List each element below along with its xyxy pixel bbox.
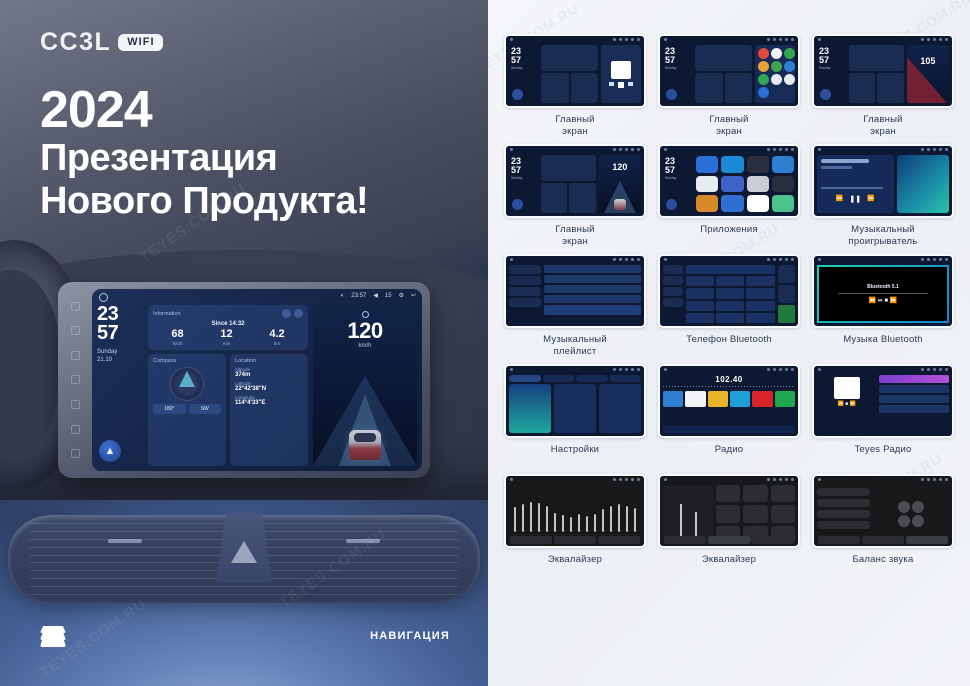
dialpad-key[interactable] [686,313,714,323]
expand-icon[interactable] [294,309,303,318]
presentation-slide: TEYES.COM.RU TEYES.COM.RU TEYES.COM.RU C… [0,0,970,686]
status-icons [921,258,948,261]
app-icon[interactable] [721,156,743,173]
home-icon [818,38,821,41]
mini-status-bar [660,36,798,43]
eq-slider[interactable] [570,517,572,532]
home-icon [818,368,821,371]
preset-button[interactable] [716,505,740,522]
mini-clock-widget: 2357Sunday [663,155,692,213]
compass-heading: 180° [153,404,186,414]
screen-caption: Радио [715,444,743,468]
eq-slider[interactable] [514,507,516,532]
speaker-grid[interactable] [898,501,924,527]
gallery-item[interactable]: Телефон Bluetooth [658,254,800,358]
app-icon[interactable] [747,176,769,193]
status-icons [613,258,640,261]
brand-name: CC3L [40,28,111,57]
navigation-button[interactable] [666,89,677,100]
preset-button[interactable] [743,505,767,522]
gallery-item[interactable]: Баланс звука [812,474,954,578]
headline-line-1: Презентация [40,137,368,180]
dialpad-key[interactable] [746,288,774,298]
music-player-view[interactable]: ⏪❚❚⏩ [817,155,949,213]
station-logo[interactable] [708,391,728,407]
screen-caption: Музыка Bluetooth [843,334,923,358]
screen-thumbnail-radio[interactable]: 102.40 [658,364,800,438]
mini-status-bar [660,146,798,153]
wifi-badge: WIFI [118,34,162,51]
navigation-button[interactable]: ▲ [99,440,121,462]
screen-caption: Баланс звука [853,554,914,578]
volume-icon: ◀ [373,292,378,299]
navigation-button[interactable] [512,199,523,210]
mini-status-bar [506,256,644,263]
back-icon[interactable] [71,400,80,409]
dialpad-key[interactable] [716,276,744,286]
carplay-tile[interactable] [554,384,596,433]
back-icon[interactable]: ↩ [411,292,416,299]
status-icons [613,368,640,371]
gallery-item[interactable]: Настройки [504,364,646,468]
compass-direction: SW [189,404,222,414]
status-icons [767,148,794,151]
screen-caption: Teyes Радио [854,444,911,468]
information-stats: 68 km/h 12 min 4.2 km [153,329,303,346]
app-icon[interactable] [721,195,743,212]
app-icon[interactable] [758,87,769,98]
status-icons [921,148,948,151]
station-logo[interactable] [752,391,772,407]
dialpad-key[interactable] [746,276,774,286]
mini-clock-widget: 2357Sunday [663,45,692,103]
eq-slider[interactable] [562,515,564,532]
dialpad-key[interactable] [686,301,714,311]
mini-status-bar [660,366,798,373]
stat-item: 4.2 km [269,329,284,346]
navigation-button[interactable] [820,89,831,100]
screen-thumbnail-bt-music[interactable]: Bluetooth 5.1⏪ ⏯ ■ ⏩ [812,254,954,328]
app-shortcuts[interactable] [755,45,795,103]
status-icons [767,368,794,371]
home-icon [510,478,513,481]
app-icon[interactable] [771,48,782,59]
home-icon [510,148,513,151]
home-icon [664,258,667,261]
dialpad-key[interactable] [746,313,774,323]
app-icon[interactable] [696,156,718,173]
settings-view[interactable] [509,375,641,433]
preset-button[interactable] [716,485,740,502]
playlist-row[interactable] [544,275,641,283]
eq-slider[interactable] [626,506,628,532]
dialpad-key[interactable] [716,288,744,298]
screen-home-icon[interactable] [99,293,108,302]
radio-list-row[interactable] [879,375,949,383]
stat-value: 4.2 [269,329,284,340]
station-logo[interactable] [730,391,750,407]
screen-caption: Главныйэкран [709,114,748,138]
mini-status-bar [506,146,644,153]
screen-caption: Главныйэкран [863,114,902,138]
gallery-item[interactable]: 2357Sunday105Главныйэкран [812,34,954,138]
mini-clock-widget: 2357Sunday [509,155,538,213]
app-icon[interactable] [696,195,718,212]
screen-thumbnail-equalizer-preset[interactable] [658,474,800,548]
music-playlist-view[interactable] [509,265,641,323]
location-widget[interactable]: Location Altitude 374m Latitude 22°42'38… [230,354,308,466]
status-icons [767,258,794,261]
clock-minutes: 57 [97,324,143,343]
driving-view[interactable]: 105 [907,45,949,103]
stat-unit: km/h [171,341,183,346]
home-icon [510,368,513,371]
home-icon [818,478,821,481]
app-icon[interactable] [772,195,794,212]
radio-list-row[interactable] [879,385,949,393]
screen-thumbnail-music-player[interactable]: ⏪❚❚⏩ [812,144,954,218]
head-unit-bezel: ◐ 23:57 ◀ 15 ⚙ ↩ 23 57 Sunday 21.10 [58,282,430,478]
preset-button[interactable] [771,485,795,502]
headline-line-2: Нового Продукта! [40,180,368,223]
eq-slider[interactable] [546,506,548,532]
screen-thumbnail-teyes-radio[interactable]: ⏪ ■ ⏩ [812,364,954,438]
button-icon-plus[interactable] [71,326,80,335]
dialpad-key[interactable] [716,301,744,311]
status-icons [767,478,794,481]
volume-down-icon[interactable] [71,425,80,434]
mini-widgets [695,45,752,103]
screen-caption: Главныйэкран [555,224,594,248]
playlist-row[interactable] [544,265,641,273]
mini-widgets [849,45,904,103]
status-volume: 15 [385,293,392,299]
latitude-value: 22°42'38"N [235,386,303,392]
screen-thumbnail-bt-phone[interactable] [658,254,800,328]
app-icon[interactable] [784,48,795,59]
speed-unit: km/h [358,343,371,349]
app-icon[interactable] [784,74,795,85]
home-icon [818,148,821,151]
app-icon[interactable] [758,61,769,72]
mini-status-bar [814,256,952,263]
screen-caption: Главныйэкран [555,114,594,138]
dialpad-key[interactable] [686,288,714,298]
head-unit-side-buttons[interactable] [64,294,86,466]
speed-icon [362,311,369,318]
app-icon[interactable] [772,156,794,173]
eq-slider[interactable] [634,508,636,532]
screen-caption: Телефон Bluetooth [686,334,772,358]
stat-unit: km [269,341,284,346]
bluetooth-phone-view[interactable] [663,265,795,323]
balance-option[interactable] [817,499,870,507]
settings-icon[interactable]: ⚙ [399,292,404,299]
mini-widgets [541,155,596,213]
stat-value: 12 [220,329,232,340]
screen-thumbnail-sound-balance[interactable] [812,474,954,548]
gallery-grid: 2357SundayГлавныйэкран2357SundayГлавныйэ… [504,34,954,578]
gallery-item[interactable]: ⏪ ■ ⏩Teyes Радио [812,364,954,468]
screen-body: 23 57 Sunday 21.10 ▲ Information [97,305,417,466]
mini-status-bar [506,36,644,43]
eq-slider[interactable] [554,513,556,532]
radio-list-row[interactable] [879,405,949,413]
equalizer-tabs[interactable] [664,536,794,544]
home-icon[interactable] [71,375,80,384]
eq-slider[interactable] [618,504,620,532]
gallery-item[interactable]: Музыкальныйплейлист [504,254,646,358]
screens-gallery-panel: TEYES.COM.RU TEYES.COM.RU TEYES.COM.RU T… [488,0,970,686]
gallery-item[interactable]: ⏪❚❚⏩Музыкальныйпроигрыватель [812,144,954,248]
wifi-tile[interactable] [509,384,551,433]
navigation-arrow-icon: ▲ [105,446,116,457]
app-icon[interactable] [772,176,794,193]
status-icons [613,148,640,151]
eq-slider[interactable] [538,503,540,532]
vent-control-right[interactable] [346,539,380,543]
slide-footer: НАВИГАЦИЯ [0,600,488,686]
mini-clock-widget: 2357Sunday [509,45,538,103]
preset-button[interactable] [743,485,767,502]
hazard-triangle-icon [231,541,257,563]
compass-dial [170,367,204,401]
mini-status-bar [660,256,798,263]
compass-widget[interactable]: Compass 180° SW [148,354,226,466]
gallery-item[interactable]: 2357SundayГлавныйэкран [658,34,800,138]
screen-caption: Настройки [551,444,599,468]
mini-status-bar [506,476,644,483]
brand-logo: CC3L WIFI [40,28,163,57]
app-icon[interactable] [771,74,782,85]
mini-clock-widget: 2357Sunday [817,45,846,103]
gallery-item[interactable]: 102.40Радио [658,364,800,468]
screen-thumbnail-home-apps[interactable]: 2357Sunday [658,34,800,108]
stat-value: 68 [171,329,183,340]
speed-value: 120 [347,320,382,342]
information-since: Since 14:32 [153,321,303,327]
information-widget[interactable]: Information Since 14:32 68 km/h [148,305,308,350]
app-icon[interactable] [747,195,769,212]
radio-list-row[interactable] [879,395,949,403]
widgets-column: Information Since 14:32 68 km/h [148,305,308,466]
home-icon [664,148,667,151]
car-graphic [349,430,381,460]
mini-status-bar [506,366,644,373]
station-logo[interactable] [685,391,705,407]
page-title: 2024 Презентация Нового Продукта! [40,84,368,222]
navigation-button[interactable] [666,199,677,210]
driving-view-widget[interactable]: 120 km/h [313,305,417,466]
longitude-value: 114°4'33"E [235,400,303,406]
headline-year: 2024 [40,84,368,137]
clock-widget: 23 57 Sunday 21.10 ▲ [97,305,143,466]
power-icon[interactable] [71,351,80,360]
balance-option[interactable] [817,510,870,518]
secondary-widgets: Compass 180° SW Location [148,354,308,466]
gallery-item[interactable]: Bluetooth 5.1⏪ ⏯ ■ ⏩Музыка Bluetooth [812,254,954,358]
home-icon [664,38,667,41]
gallery-item[interactable]: Эквалайзер [658,474,800,578]
status-icons [767,38,794,41]
screen-thumbnail-home-music[interactable]: 2357Sunday [504,34,646,108]
left-hero-panel: TEYES.COM.RU TEYES.COM.RU TEYES.COM.RU C… [0,0,488,686]
eq-slider[interactable] [522,504,524,532]
screen-caption: Музыкальныйплейлист [543,334,607,358]
preset-button[interactable] [771,505,795,522]
clock-day: Sunday [97,348,143,356]
status-icons [921,478,948,481]
equalizer-sliders[interactable] [514,492,636,532]
eq-slider[interactable] [594,514,596,532]
app-icon[interactable] [696,176,718,193]
dialpad-key[interactable] [716,313,744,323]
playlist-row[interactable] [544,285,641,293]
gallery-item[interactable]: 2357Sunday120Главныйэкран [504,144,646,248]
compass-title: Compass [153,358,221,364]
status-icons [613,38,640,41]
screen-thumbnail-settings[interactable] [504,364,646,438]
mini-widgets [541,45,598,103]
more-tile[interactable] [599,384,641,433]
dialpad-key[interactable] [686,276,714,286]
wifi-icon: ◐ [341,293,345,299]
eq-slider[interactable] [578,514,580,532]
screen-status-bar: ◐ 23:57 ◀ 15 ⚙ ↩ [341,292,416,299]
playlist-row[interactable] [544,295,641,303]
screen-thumbnail-music-playlist[interactable] [504,254,646,328]
dialpad-key[interactable] [746,301,774,311]
station-logo[interactable] [663,391,683,407]
app-icon[interactable] [771,61,782,72]
app-icon[interactable] [747,156,769,173]
balance-option[interactable] [817,521,870,529]
home-icon [664,478,667,481]
app-icon[interactable] [758,48,769,59]
eq-slider[interactable] [610,506,612,532]
equalizer-preset-view[interactable] [663,485,795,543]
location-title: Location [235,358,303,364]
screen-caption: Эквалайзер [548,554,602,578]
clock-date: 21.10 [97,356,143,364]
screen-thumbnail-home-speed[interactable]: 2357Sunday120 [504,144,646,218]
eq-slider[interactable] [530,502,532,532]
stat-item: 68 km/h [171,329,183,346]
app-icon[interactable] [721,176,743,193]
home-icon [818,258,821,261]
mini-status-bar [814,146,952,153]
app-icon[interactable] [784,61,795,72]
sound-balance-view[interactable] [817,485,949,543]
screen-caption: Эквалайзер [702,554,756,578]
gallery-item[interactable]: 2357SundayГлавныйэкран [504,34,646,138]
screen-thumbnail-home-drive[interactable]: 2357Sunday105 [812,34,954,108]
volume-up-icon[interactable] [71,449,80,458]
eq-slider[interactable] [602,509,604,532]
information-title: Information [153,311,181,317]
teyes-radio-view[interactable]: ⏪ ■ ⏩ [817,375,949,433]
balance-tabs[interactable] [818,536,948,544]
screen-thumbnail-equalizer-bars[interactable] [504,474,646,548]
bluetooth-music-view[interactable]: Bluetooth 5.1⏪ ⏯ ■ ⏩ [817,265,949,323]
stat-item: 12 min [220,329,232,346]
status-time: 23:57 [351,293,366,299]
radio-view[interactable]: 102.40 [663,375,795,433]
head-unit-screen[interactable]: ◐ 23:57 ◀ 15 ⚙ ↩ 23 57 Sunday 21.10 [92,289,422,471]
home-icon [664,368,667,371]
status-icons [613,478,640,481]
station-logo[interactable] [775,391,795,407]
footer-nav-label: НАВИГАЦИЯ [370,630,450,642]
refresh-icon[interactable] [282,309,291,318]
status-icons [921,38,948,41]
mini-status-bar [660,476,798,483]
gallery-item[interactable]: Эквалайзер [504,474,646,578]
status-icons [921,368,948,371]
gallery-item[interactable]: 2357SundayПриложения [658,144,800,248]
stat-unit: min [220,341,232,346]
altitude-value: 374m [235,372,303,378]
screen-caption: Музыкальныйпроигрыватель [849,224,918,248]
home-icon [510,258,513,261]
button-icon-minus[interactable] [71,302,80,311]
screen-thumbnail-app-drawer[interactable]: 2357Sunday [658,144,800,218]
app-icon[interactable] [758,74,769,85]
home-icon [510,38,513,41]
mini-status-bar [814,476,952,483]
eq-slider[interactable] [586,516,588,532]
music-widget[interactable] [601,45,641,103]
navigation-button[interactable] [512,89,523,100]
layers-icon [40,626,66,646]
driving-view[interactable]: 120 [599,155,641,213]
app-grid[interactable] [695,155,795,213]
mini-status-bar [814,36,952,43]
vent-control-left[interactable] [108,539,142,543]
information-actions[interactable] [282,309,303,318]
mini-status-bar [814,366,952,373]
balance-option[interactable] [817,488,870,496]
equalizer-tabs[interactable] [510,536,640,544]
screen-caption: Приложения [700,224,758,248]
